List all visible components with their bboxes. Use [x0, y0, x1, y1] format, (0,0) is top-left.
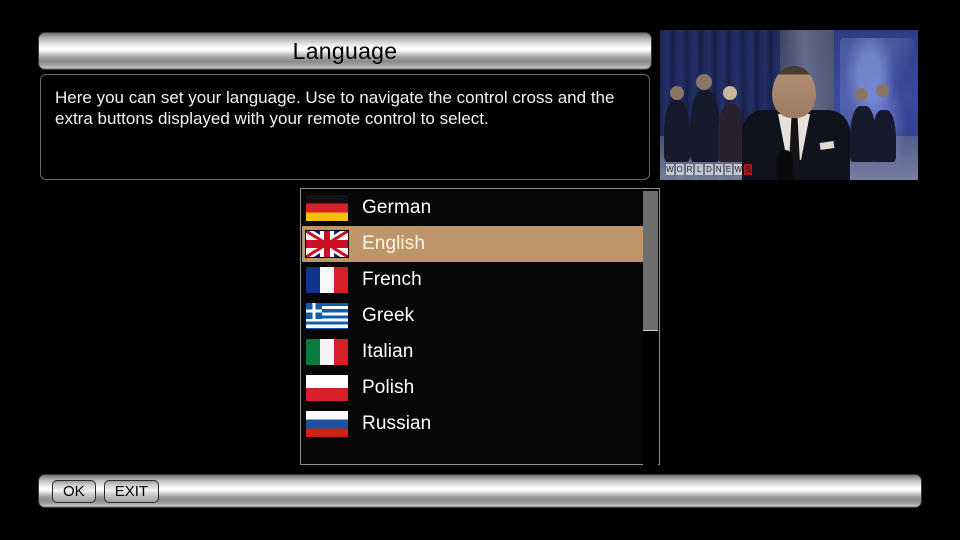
channel-logo-letter: N [715, 164, 723, 175]
flag-icon-pl [305, 374, 349, 402]
flag-diagonal-red [306, 231, 348, 257]
description-text: Here you can set your language. Use to n… [55, 87, 635, 129]
language-list-item-label: Greek [362, 305, 414, 327]
osd-screen: Language Here you can set your language.… [0, 0, 960, 540]
channel-logo-letter: S [744, 164, 752, 175]
video-crowd-head [696, 74, 712, 90]
language-list-item-label: German [362, 197, 431, 219]
exit-button-label: EXIT [115, 483, 148, 500]
ok-button-label: OK [63, 483, 85, 500]
language-list-item-label: English [362, 233, 425, 255]
language-list-panel[interactable]: GermanEnglishFrenchGreekItalianPolishRus… [300, 188, 660, 465]
language-list-item-gr[interactable]: Greek [302, 298, 644, 334]
flag-icon-it [305, 338, 349, 366]
flag-diagonal-white [306, 231, 348, 257]
video-crowd-head [723, 86, 737, 100]
flag-icon-ru [305, 410, 349, 438]
channel-logo-letter: L [695, 164, 703, 175]
language-list[interactable]: GermanEnglishFrenchGreekItalianPolishRus… [302, 190, 644, 442]
language-list-item-fr[interactable]: French [302, 262, 644, 298]
language-list-item-pl[interactable]: Polish [302, 370, 644, 406]
video-crowd-figure [664, 100, 690, 162]
bottom-action-bar: OKEXIT [38, 474, 922, 508]
list-scrollbar-track[interactable] [643, 190, 658, 465]
channel-logo-letter: W [666, 164, 674, 175]
list-scrollbar-thumb[interactable] [643, 191, 658, 331]
language-list-item-gb[interactable]: English [302, 226, 644, 262]
channel-logo-letter: R [686, 164, 694, 175]
channel-logo-letter: D [705, 164, 713, 175]
channel-logo-watermark: WORLDNEWS [666, 163, 752, 176]
channel-logo-letter: W [734, 164, 742, 175]
language-list-item-ru[interactable]: Russian [302, 406, 644, 442]
exit-button[interactable]: EXIT [104, 480, 159, 503]
flag-icon-de [305, 194, 349, 222]
description-panel: Here you can set your language. Use to n… [40, 74, 650, 180]
video-crowd-figure [718, 104, 744, 162]
flag-icon-gr [305, 302, 349, 330]
window-title-bar: Language [38, 32, 652, 70]
language-list-item-label: French [362, 269, 422, 291]
video-crowd-head [855, 88, 868, 101]
channel-logo-letter: E [725, 164, 733, 175]
flag-icon-gb [305, 230, 349, 258]
video-crowd-figure [690, 90, 720, 162]
language-list-item-de[interactable]: German [302, 190, 644, 226]
language-list-item-label: Russian [362, 413, 431, 435]
channel-logo-letter: O [676, 164, 684, 175]
ok-button[interactable]: OK [52, 480, 96, 503]
video-crowd-figure [872, 110, 896, 162]
language-list-item-label: Polish [362, 377, 414, 399]
flag-icon-fr [305, 266, 349, 294]
language-list-item-label: Italian [362, 341, 413, 363]
video-microphone [777, 150, 793, 180]
video-presenter-head [772, 66, 816, 118]
page-title: Language [293, 38, 398, 65]
video-preview[interactable]: WORLDNEWS [660, 30, 918, 180]
video-crowd-head [876, 84, 889, 97]
language-list-item-it[interactable]: Italian [302, 334, 644, 370]
video-crowd-head [670, 86, 684, 100]
